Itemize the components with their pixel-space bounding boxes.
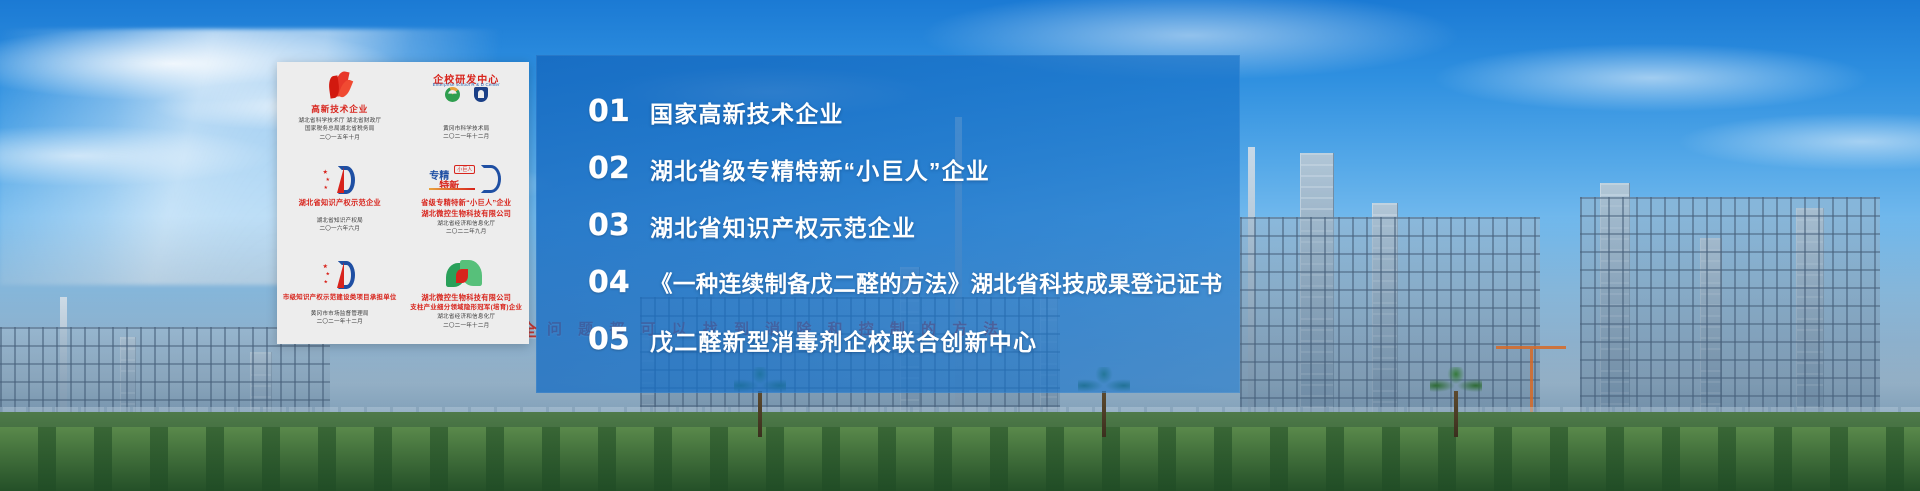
issuer-date: 二〇一五年十月 <box>298 134 381 142</box>
certificate-card-5[interactable]: 市级知识产权示范建设类项目承担单位 黄冈市市场监督管理局 二〇二一年十二月 <box>277 251 403 344</box>
certificate-issuer: 黄冈市市场监督管理局 二〇二一年十二月 <box>311 310 369 327</box>
issuer-line: 黄冈市市场监督管理局 <box>311 310 369 318</box>
issuer-date: 二〇二二年九月 <box>437 228 495 236</box>
honor-item-05[interactable]: 05 戊二醛新型消毒剂企校联合创新中心 <box>588 311 1232 368</box>
honor-label: 《一种连续制备戊二醛的方法》湖北省科技成果登记证书 <box>650 267 1223 299</box>
honor-number: 02 <box>588 154 650 184</box>
honor-number: 04 <box>588 268 650 298</box>
star-sail-emblem <box>323 163 357 197</box>
honor-number: 01 <box>588 97 650 127</box>
certificate-subtitle: 支柱产业细分领域隐形冠军(培育)企业 <box>410 304 522 311</box>
honor-item-04[interactable]: 04 《一种连续制备戊二醛的方法》湖北省科技成果登记证书 <box>588 254 1232 311</box>
certificate-issuer: 湖北省知识产权局 二〇一六年六月 <box>317 217 363 234</box>
honor-item-03[interactable]: 03 湖北省知识产权示范企业 <box>588 197 1232 254</box>
certificate-card-2[interactable]: 企校研发中心 Enterprise school R & D Center 黄冈… <box>404 62 530 155</box>
certificate-card-4[interactable]: 专精 小巨人 特新 省级专精特新“小巨人”企业 湖北微控生物科技有限公司 湖北省… <box>404 156 530 249</box>
issuer-line: 国家税务总局湖北省税务局 <box>298 125 381 133</box>
certificate-issuer: 湖北省经济和信息化厅 二〇二二年九月 <box>437 220 495 237</box>
honor-label: 戊二醛新型消毒剂企校联合创新中心 <box>650 323 1037 357</box>
zhuan-jing-te-xin-emblem: 专精 小巨人 特新 <box>429 163 503 197</box>
certificate-card-3[interactable]: 湖北省知识产权示范企业 湖北省知识产权局 二〇一六年六月 <box>277 156 403 249</box>
honor-label: 湖北省级专精特新“小巨人”企业 <box>650 152 990 186</box>
certificate-title: 省级专精特新“小巨人”企业 <box>421 199 511 207</box>
honor-label: 国家高新技术企业 <box>650 95 844 129</box>
green-leaf-emblem <box>444 258 488 292</box>
certificate-card-1[interactable]: 高新技术企业 湖北省科学技术厅 湖北省财政厅 国家税务总局湖北省税务局 二〇一五… <box>277 62 403 155</box>
honor-item-02[interactable]: 02 湖北省级专精特新“小巨人”企业 <box>588 140 1232 197</box>
issuer-line: 湖北省经济和信息化厅 <box>437 220 495 228</box>
flame-emblem <box>326 69 354 103</box>
certificate-title: 市级知识产权示范建设类项目承担单位 <box>283 294 397 301</box>
honor-number: 03 <box>588 211 650 241</box>
issuer-line: 湖北省知识产权局 <box>317 217 363 225</box>
certificate-issuer: 湖北省科学技术厅 湖北省财政厅 国家税务总局湖北省税务局 二〇一五年十月 <box>298 117 381 142</box>
certificate-issuer: 湖北省经济和信息化厅 二〇二一年十二月 <box>437 313 495 330</box>
honor-label: 湖北省知识产权示范企业 <box>650 209 916 243</box>
issuer-date: 二〇一六年六月 <box>317 225 363 233</box>
hedge-row <box>0 427 1920 491</box>
certificate-title: 湖北微控生物科技有限公司 <box>421 294 511 302</box>
certificate-subtitle: 湖北微控生物科技有限公司 <box>421 210 511 218</box>
enterprise-school-rnd-emblem: 企校研发中心 Enterprise school R & D Center <box>426 69 506 107</box>
shield-logo-icon <box>474 87 488 102</box>
honors-panel: 01 国家高新技术企业 02 湖北省级专精特新“小巨人”企业 03 湖北省知识产… <box>536 55 1240 393</box>
certificate-title: 湖北省知识产权示范企业 <box>299 199 381 207</box>
certificate-grid: 高新技术企业 湖北省科学技术厅 湖北省财政厅 国家税务总局湖北省税务局 二〇一五… <box>277 62 529 344</box>
star-sail-emblem <box>323 258 357 292</box>
honor-number: 05 <box>588 325 650 355</box>
leaf-logo-icon <box>445 87 460 102</box>
issuer-line: 湖北省科学技术厅 湖北省财政厅 <box>298 117 381 125</box>
banner-stage: 全 问 题 都 可 以 找 到 消 除 和 控 制 的 方 法 高新技术企业 湖… <box>0 0 1920 491</box>
honor-item-01[interactable]: 01 国家高新技术企业 <box>588 83 1232 140</box>
issuer-line: 黄冈市科学技术局 <box>443 125 489 133</box>
issuer-line: 湖北省经济和信息化厅 <box>437 313 495 321</box>
issuer-date: 二〇二一年十二月 <box>311 318 369 326</box>
certificate-card-6[interactable]: 湖北微控生物科技有限公司 支柱产业细分领域隐形冠军(培育)企业 湖北省经济和信息… <box>404 251 530 344</box>
honors-list: 01 国家高新技术企业 02 湖北省级专精特新“小巨人”企业 03 湖北省知识产… <box>588 83 1232 368</box>
certificate-title: 高新技术企业 <box>311 105 368 115</box>
certificate-issuer: 黄冈市科学技术局 二〇二一年十二月 <box>443 125 489 142</box>
issuer-date: 二〇二一年十二月 <box>443 133 489 141</box>
issuer-date: 二〇二一年十二月 <box>437 322 495 330</box>
